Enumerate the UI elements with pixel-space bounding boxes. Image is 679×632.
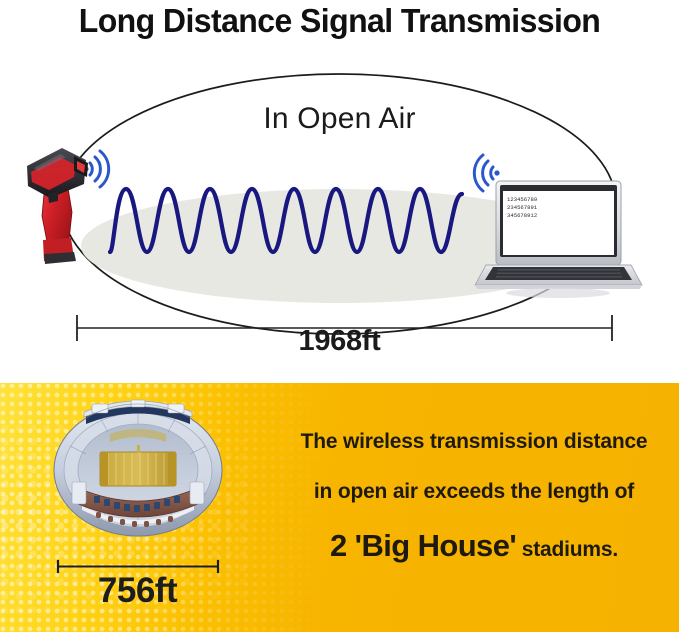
laptop-screen-line-3: 345678912 <box>507 212 537 219</box>
stadium-name: 'Big House' <box>355 528 516 563</box>
open-air-scene-panel: 123456789 234567891 345678912 <box>0 44 679 383</box>
caption-line-2: in open air exceeds the length of <box>286 481 662 502</box>
comparison-banner: 756ft The wireless transmission distance… <box>0 383 679 632</box>
environment-label: In Open Air <box>0 102 679 136</box>
stadium-illustration <box>38 390 238 550</box>
distance-label-open-air: 1968ft <box>0 325 679 358</box>
laptop-screen-line-2: 234567891 <box>507 204 538 211</box>
stadium-tail: stadiums. <box>522 538 618 561</box>
laptop-screen-line-1: 123456789 <box>507 196 537 203</box>
page-title: Long Distance Signal Transmission <box>10 0 669 44</box>
comparison-caption: The wireless transmission distance in op… <box>286 431 662 567</box>
infographic-page: Long Distance Signal Transmission <box>0 0 679 632</box>
caption-line-1: The wireless transmission distance <box>286 431 662 452</box>
caption-line-3: 2 'Big House' stadiums. <box>286 531 662 567</box>
barcode-scanner-icon <box>27 148 88 264</box>
stadium-distance-label: 756ft <box>30 571 245 611</box>
stadium-count: 2 <box>330 528 347 563</box>
laptop-icon: 123456789 234567891 345678912 <box>475 181 642 298</box>
